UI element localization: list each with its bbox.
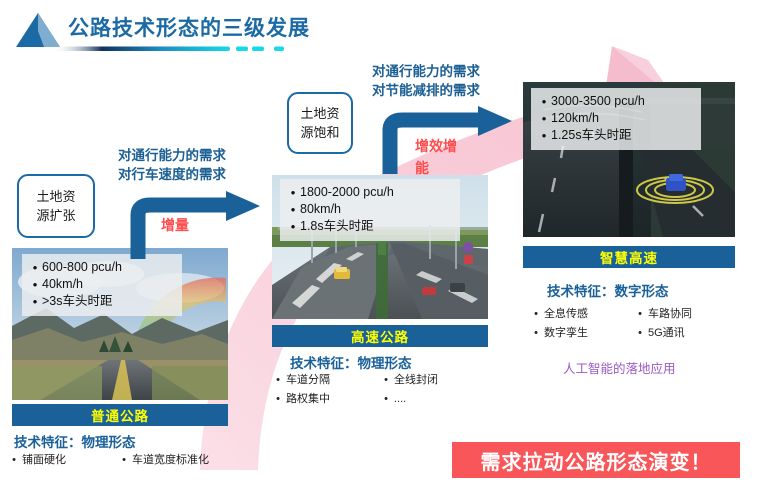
transition-2-demand-line1: 对通行能力的需求 xyxy=(372,62,480,81)
stage-3-feature-0: 全息传感 xyxy=(544,305,588,324)
stage-3-spec-0: 3000-3500 pcu/h xyxy=(551,93,645,110)
stage-2-feature: • 路权集中 xyxy=(270,390,378,409)
bullet-icon: • xyxy=(28,276,42,293)
title-underline-decoration xyxy=(52,44,284,53)
bullet-icon: • xyxy=(537,93,551,110)
stage-2-feature-0: 车道分隔 xyxy=(286,371,330,390)
bullet-icon: • xyxy=(537,127,551,144)
bullet-icon: • xyxy=(286,201,300,218)
stage-2-spec-overlay: • 1800-2000 pcu/h • 80km/h • 1.8s车头时距 xyxy=(280,179,460,241)
slide-canvas: 公路技术形态的三级发展 土地资 源扩张 对通行能力的需求 对行车速度的需求 增量 xyxy=(0,0,760,503)
page-title: 公路技术形态的三级发展 xyxy=(68,12,310,42)
driver-line-2: 源扩张 xyxy=(36,206,75,225)
stage-1-feature-1: 车道宽度标准化 xyxy=(132,451,209,470)
stage-2-photo: • 1800-2000 pcu/h • 80km/h • 1.8s车头时距 xyxy=(272,175,488,319)
stage-2-spec-2: 1.8s车头时距 xyxy=(300,218,374,235)
stage-3-feature: • 全息传感 xyxy=(528,305,632,324)
stage-2-feature-2: 路权集中 xyxy=(286,390,330,409)
bullet-icon: • xyxy=(28,293,42,310)
stage-3-spec-overlay: • 3000-3500 pcu/h • 120km/h • 1.25s车头时距 xyxy=(531,88,701,150)
stage-3-spec-1: 120km/h xyxy=(551,110,599,127)
bullet-icon: • xyxy=(6,451,22,470)
transition-1-demand: 对通行能力的需求 对行车速度的需求 xyxy=(118,146,226,184)
stage-2-feature: • 车道分隔 xyxy=(270,371,378,390)
stage-1-feature-head: 技术特征：物理形态 xyxy=(14,431,136,451)
stage-1-feature-0: 铺面硬化 xyxy=(22,451,66,470)
bullet-icon: • xyxy=(270,390,286,409)
stage-1-spec-1: 40km/h xyxy=(42,276,83,293)
stage-2-feature-head: 技术特征：物理形态 xyxy=(290,352,412,372)
stage-1-spec-row: • >3s车头时距 xyxy=(28,293,174,310)
stage-2-spec-row: • 80km/h xyxy=(286,201,452,218)
stage-1-spec-row: • 40km/h xyxy=(28,276,174,293)
bullet-icon: • xyxy=(28,259,42,276)
stage-3-spec-row: • 1.25s车头时距 xyxy=(537,127,693,144)
driver-box-land-saturation: 土地资 源饱和 xyxy=(287,92,353,154)
transition-2-demand-line2: 对节能减排的需求 xyxy=(372,81,480,100)
stage-2-banner: 高速公路 xyxy=(272,325,488,347)
bullet-icon: • xyxy=(286,218,300,235)
stage-2-feature-1: 全线封闭 xyxy=(394,371,438,390)
transition-2-demand: 对通行能力的需求 对节能减排的需求 xyxy=(372,62,480,100)
bullet-icon: • xyxy=(632,305,648,324)
bullet-icon: • xyxy=(116,451,132,470)
stage-1-feature: • 车道宽度标准化 xyxy=(116,451,238,470)
stage-1-feature: • 铺面硬化 xyxy=(6,451,116,470)
bullet-icon: • xyxy=(528,305,544,324)
transition-1-demand-line2: 对行车速度的需求 xyxy=(118,165,226,184)
transition-1-effect: 增量 xyxy=(161,214,195,236)
bullet-icon: • xyxy=(528,324,544,343)
stage-3-feature-1: 车路协同 xyxy=(648,305,692,324)
mountain-triangle-icon xyxy=(12,9,68,49)
stage-1-spec-2: >3s车头时距 xyxy=(42,293,113,310)
stage-3-spec-row: • 3000-3500 pcu/h xyxy=(537,93,693,110)
stage-2-feature-3: .... xyxy=(394,390,406,409)
stage-2-spec-1: 80km/h xyxy=(300,201,341,218)
stage-3-feature-2: 数字孪生 xyxy=(544,324,588,343)
stage-3-spec-row: • 120km/h xyxy=(537,110,693,127)
bullet-icon: • xyxy=(378,390,394,409)
stage-3-note: 人工智能的落地应用 xyxy=(563,358,676,377)
conclusion-banner: 需求拉动公路形态演变！ xyxy=(452,442,740,478)
driver-line-1: 土地资 xyxy=(300,104,339,123)
driver-line-1: 土地资 xyxy=(36,187,75,206)
stage-3-feature: • 数字孪生 xyxy=(528,324,632,343)
stage-1-spec-row: • 600-800 pcu/h xyxy=(28,259,174,276)
transition-1-demand-line1: 对通行能力的需求 xyxy=(118,146,226,165)
transition-2-effect: 增效增能 xyxy=(415,135,467,179)
driver-line-2: 源饱和 xyxy=(300,123,339,142)
stage-3-feature: • 车路协同 xyxy=(632,305,738,324)
stage-1-spec-0: 600-800 pcu/h xyxy=(42,259,122,276)
bullet-icon: • xyxy=(286,184,300,201)
driver-box-land-expansion: 土地资 源扩张 xyxy=(17,174,95,238)
bullet-icon: • xyxy=(632,324,648,343)
stage-2-spec-row: • 1800-2000 pcu/h xyxy=(286,184,452,201)
stage-3-banner: 智慧高速 xyxy=(523,246,735,268)
stage-3-feature: • 5G通讯 xyxy=(632,324,738,343)
bullet-icon: • xyxy=(270,371,286,390)
stage-2-feature: • 全线封闭 xyxy=(378,371,488,390)
stage-1-spec-overlay: • 600-800 pcu/h • 40km/h • >3s车头时距 xyxy=(22,254,182,316)
stage-3-photo: • 3000-3500 pcu/h • 120km/h • 1.25s车头时距 xyxy=(523,82,735,237)
stage-3-spec-2: 1.25s车头时距 xyxy=(551,127,632,144)
bullet-icon: • xyxy=(537,110,551,127)
stage-3-feature-head: 技术特征：数字形态 xyxy=(547,280,669,300)
stage-1-photo: • 600-800 pcu/h • 40km/h • >3s车头时距 xyxy=(12,248,228,400)
stage-2-feature: • .... xyxy=(378,390,488,409)
stage-1-banner: 普通公路 xyxy=(12,404,228,426)
stage-2-spec-row: • 1.8s车头时距 xyxy=(286,218,452,235)
bullet-icon: • xyxy=(378,371,394,390)
stage-3-feature-3: 5G通讯 xyxy=(648,324,685,343)
stage-2-spec-0: 1800-2000 pcu/h xyxy=(300,184,394,201)
